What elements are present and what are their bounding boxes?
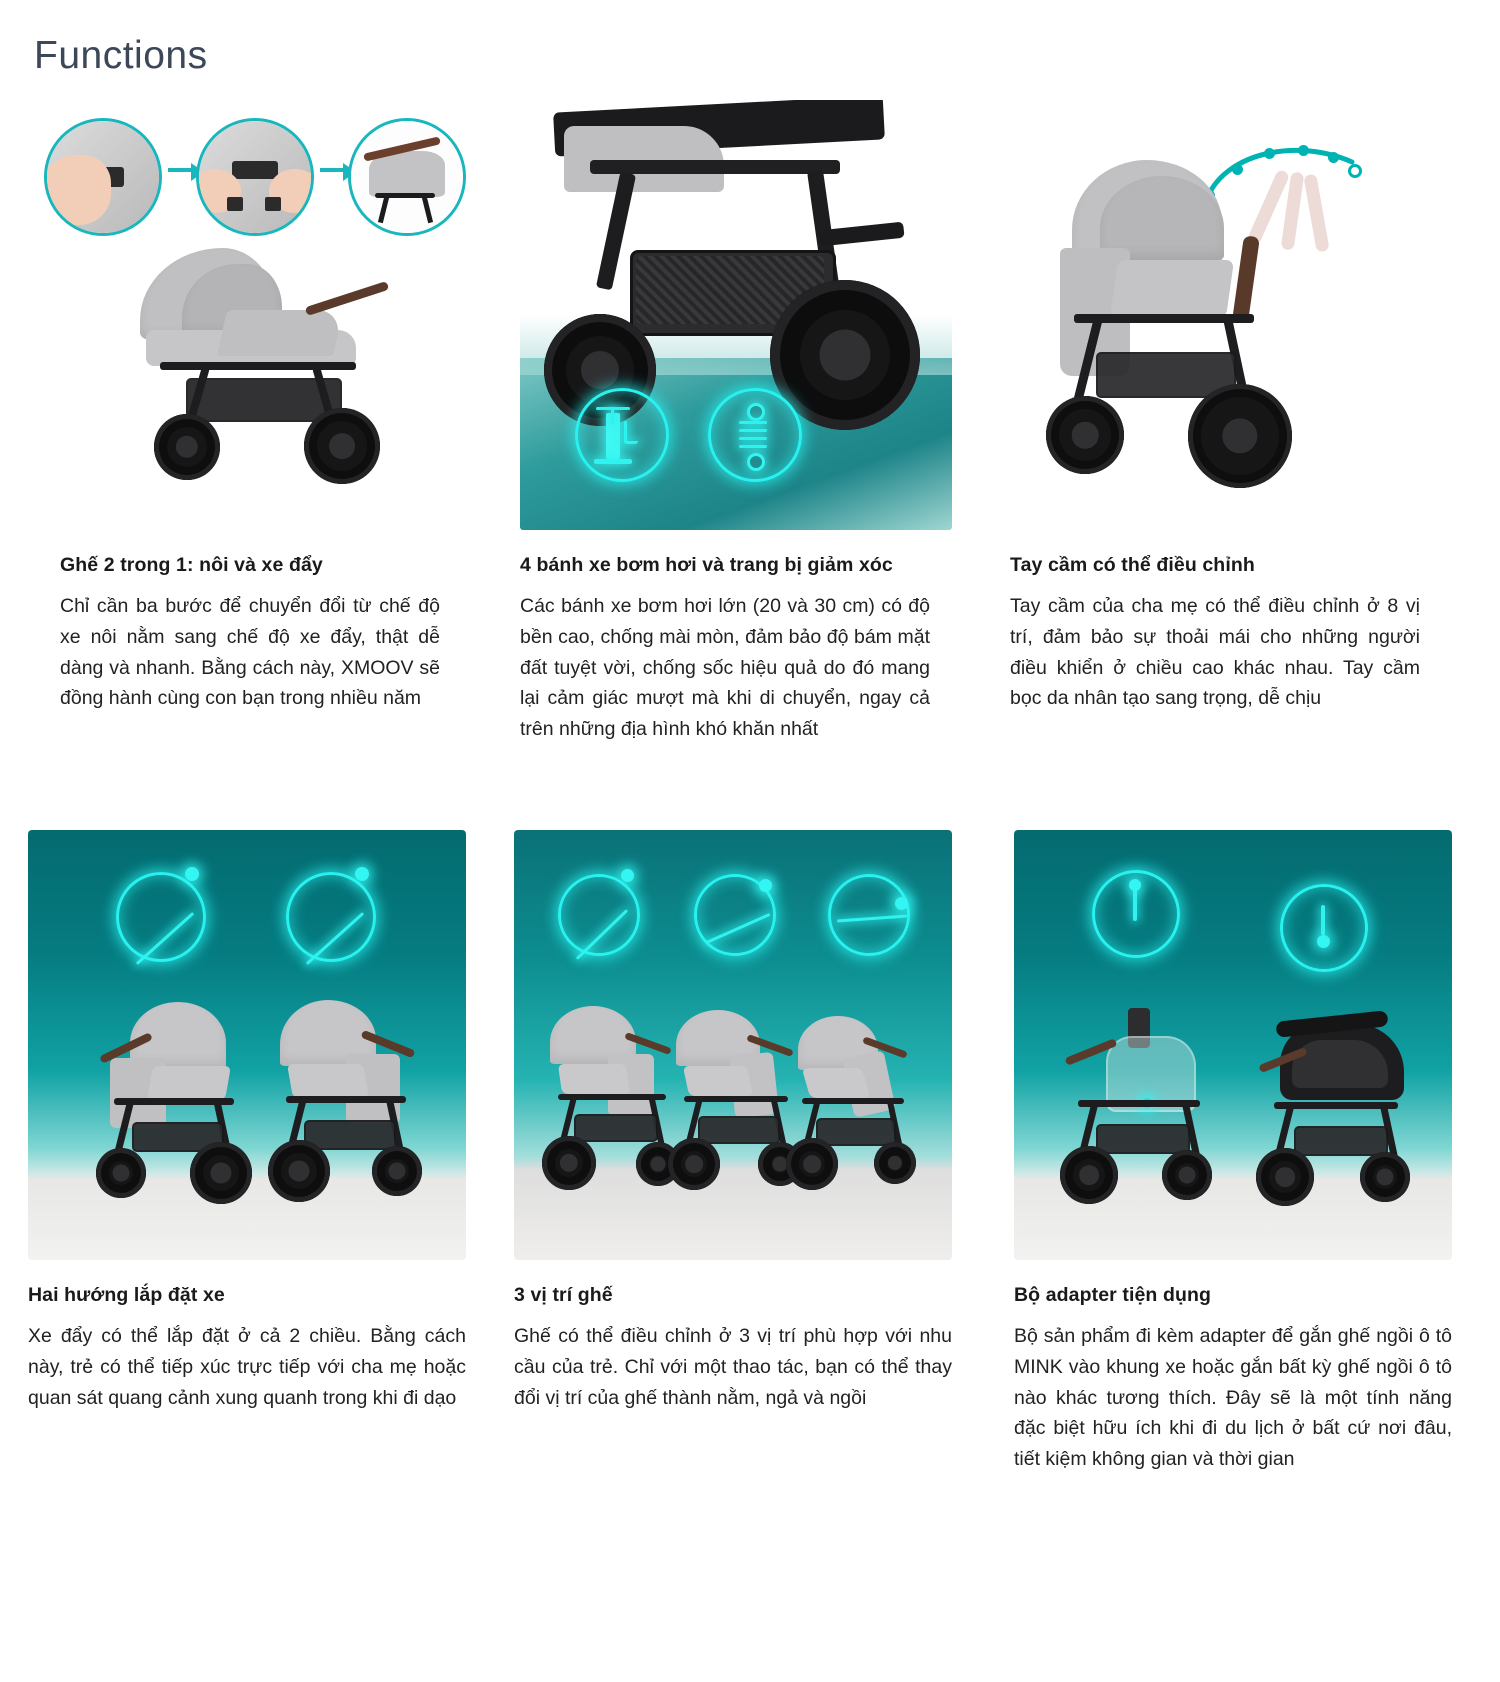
stroller-carrycot-conversion-image <box>30 100 492 530</box>
feature-caption: Hai hướng lắp đặt xe Xe đẩy có thể lắp đ… <box>28 1260 486 1413</box>
feature-card-adapter-set: Bộ adapter tiện dụng Bộ sản phẩm đi kèm … <box>1014 830 1472 1475</box>
feature-title: 3 vị trí ghế <box>514 1284 972 1307</box>
feature-caption: Bộ adapter tiện dụng Bộ sản phẩm đi kèm … <box>1014 1260 1472 1475</box>
feature-title: Hai hướng lắp đặt xe <box>28 1284 486 1307</box>
step-3-icon <box>348 118 466 236</box>
stroller-rear-facing <box>88 1000 288 1210</box>
stroller-two-directions-image <box>28 830 466 1260</box>
recline-icon <box>558 874 640 956</box>
features-row-top: Ghế 2 trong 1: nôi và xe đẩy Chỉ cần ba … <box>0 100 1500 745</box>
step-2-icon <box>196 118 314 236</box>
stroller-three-seat-positions-image <box>514 830 952 1260</box>
feature-body: Xe đẩy có thể lắp đặt ở cả 2 chiều. Bằng… <box>28 1321 466 1413</box>
functions-page: Functions <box>0 0 1500 1682</box>
feature-body: Ghế có thể điều chỉnh ở 3 vị trí phù hợp… <box>514 1321 952 1413</box>
features-row-bottom: Hai hướng lắp đặt xe Xe đẩy có thể lắp đ… <box>0 830 1500 1475</box>
click-in-icon <box>1280 884 1368 972</box>
feature-caption: 4 bánh xe bơm hơi và trang bị giảm xóc C… <box>520 530 982 745</box>
stroller-car-seat-adapter-image <box>1014 830 1452 1260</box>
feature-title: Ghế 2 trong 1: nôi và xe đẩy <box>30 554 492 577</box>
feature-body: Bộ sản phẩm đi kèm adapter để gắn ghế ng… <box>1014 1321 1452 1475</box>
feature-title: 4 bánh xe bơm hơi và trang bị giảm xóc <box>520 554 982 577</box>
recline-icon <box>694 874 776 956</box>
feature-title: Bộ adapter tiện dụng <box>1014 1284 1472 1307</box>
feature-card-two-directions: Hai hướng lắp đặt xe Xe đẩy có thể lắp đ… <box>28 830 486 1475</box>
feature-caption: Ghế 2 trong 1: nôi và xe đẩy Chỉ cần ba … <box>30 530 492 714</box>
air-pump-icon <box>575 388 669 482</box>
feature-card-three-positions: 3 vị trí ghế Ghế có thể điều chỉnh ở 3 v… <box>514 830 972 1475</box>
feature-card-adjustable-handle: Tay cầm có thể điều chỉnh Tay cầm của ch… <box>1010 100 1472 745</box>
feature-body: Tay cầm của cha mẹ có thể điều chỉnh ở 8… <box>1010 591 1420 714</box>
feature-card-pneumatic-wheels: 4 bánh xe bơm hơi và trang bị giảm xóc C… <box>520 100 982 745</box>
feature-body: Chỉ cần ba bước để chuyển đổi từ chế độ … <box>30 591 440 714</box>
stroller-frame-with-adapter <box>1058 1002 1258 1210</box>
stroller-wheels-closeup-image <box>520 100 952 530</box>
feature-caption: 3 vị trí ghế Ghế có thể điều chỉnh ở 3 v… <box>514 1260 972 1413</box>
step-1-icon <box>44 118 162 236</box>
page-title: Functions <box>34 34 208 78</box>
feature-caption: Tay cầm có thể điều chỉnh Tay cầm của ch… <box>1010 530 1472 714</box>
conversion-steps-diagram <box>44 112 464 242</box>
stroller-adjustable-handle-image <box>1010 100 1472 530</box>
feature-body: Các bánh xe bơm hơi lớn (20 và 30 cm) có… <box>520 591 930 745</box>
recline-icon <box>828 874 910 956</box>
rotate-seat-icon <box>286 872 376 962</box>
stroller-carrycot-photo <box>126 238 426 498</box>
stroller-sit-up <box>786 1008 952 1208</box>
stroller-with-car-seat <box>1252 1006 1452 1210</box>
rotate-seat-icon <box>116 872 206 962</box>
features-grid: Ghế 2 trong 1: nôi và xe đẩy Chỉ cần ba … <box>0 100 1500 1475</box>
feature-title: Tay cầm có thể điều chỉnh <box>1010 554 1472 577</box>
click-in-icon <box>1092 870 1180 958</box>
feature-card-seat-2-in-1: Ghế 2 trong 1: nôi và xe đẩy Chỉ cần ba … <box>30 100 492 745</box>
stroller-photo <box>1038 156 1368 496</box>
stroller-forward-facing <box>264 998 464 1210</box>
suspension-spring-icon <box>708 388 802 482</box>
